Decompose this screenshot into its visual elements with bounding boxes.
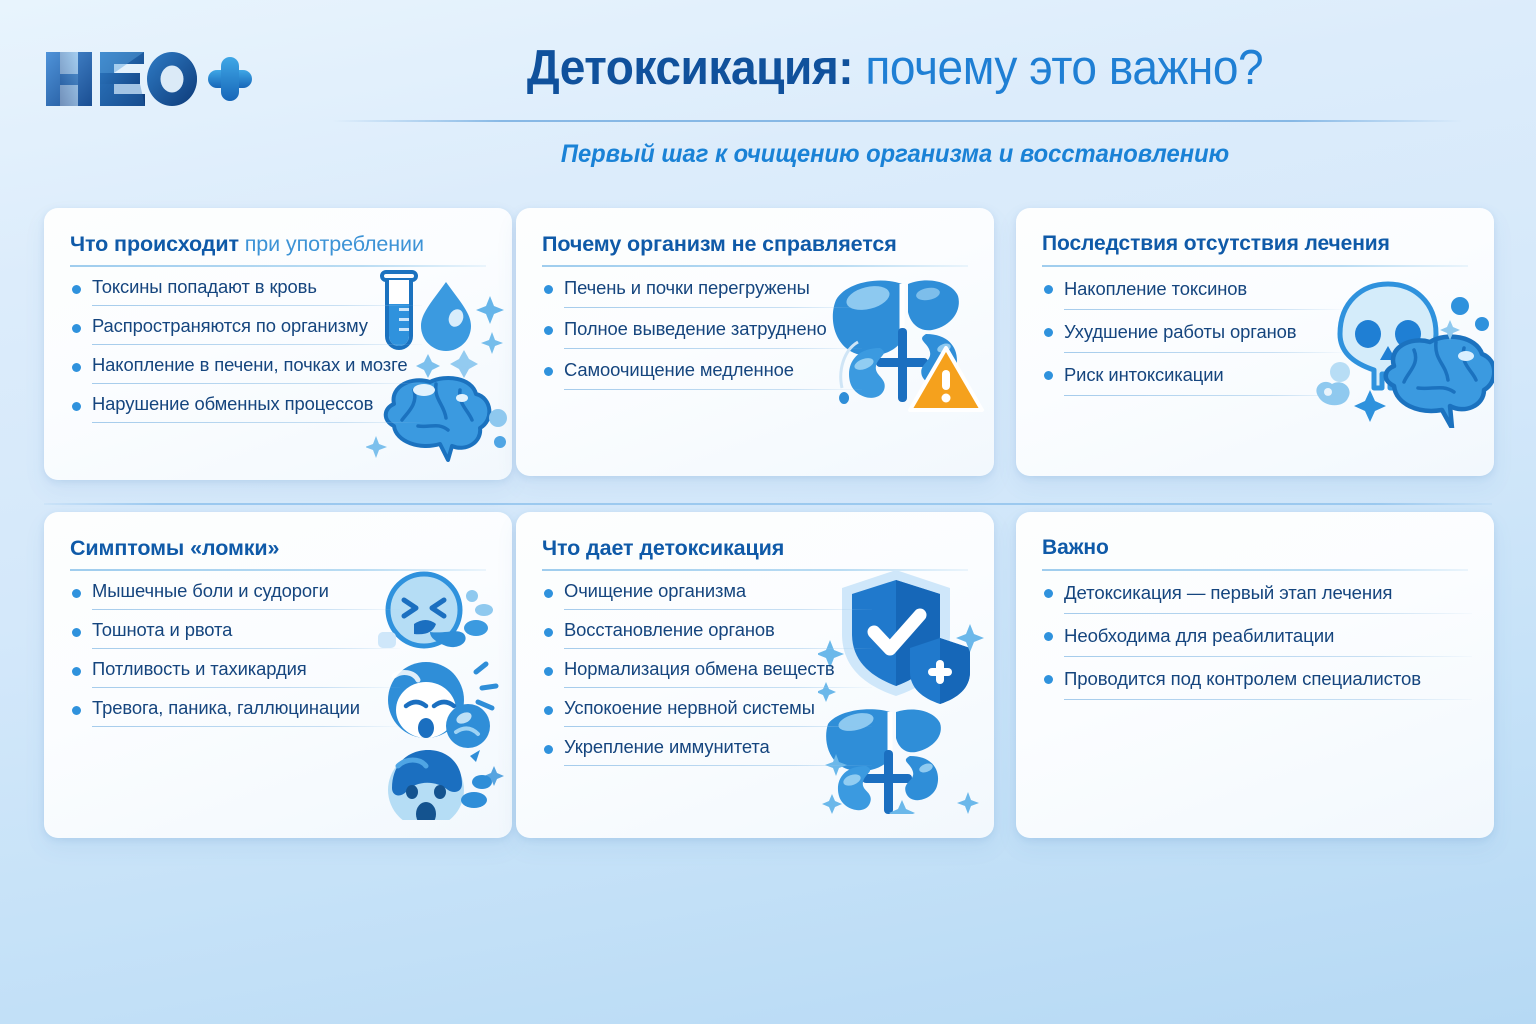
list-item[interactable]: Мышечные боли и судороги [70, 571, 400, 610]
card-title: Последствия отсутствия лечения [1042, 230, 1468, 258]
page-title: Детоксикация: почему это важно? [280, 38, 1510, 98]
list-item[interactable]: Распространяются по организму [70, 306, 422, 345]
sweating-face-icon [388, 662, 496, 748]
list-item[interactable]: Тошнота и рвота [70, 610, 400, 649]
warning-triangle-icon [910, 348, 982, 410]
page-title-bold: Детоксикация: [527, 41, 853, 95]
list-item[interactable]: Очищение организма [542, 571, 872, 610]
sparkle-icon [416, 296, 504, 378]
card-2-list: Печень и почки перегружены Полное выведе… [542, 267, 862, 390]
card-title: Что дает детоксикация [542, 534, 968, 562]
card-title: Симптомы «ломки» [70, 534, 486, 562]
list-item[interactable]: Полное выведение затруднено [542, 308, 862, 349]
card-title-bold: Что происходит [70, 232, 239, 256]
infographic-stage: Детоксикация: почему это важно? Первый ш… [0, 0, 1536, 1024]
list-item[interactable]: Тревога, паника, галлюцинации [70, 688, 400, 727]
card-why-body-fails[interactable]: Почему организм не справляется [516, 208, 994, 476]
card-title-bold: Важно [1042, 536, 1109, 559]
list-item[interactable]: Потливость и тахикардия [70, 649, 400, 688]
list-item[interactable]: Ухудшение работы органов [1042, 310, 1342, 353]
list-item[interactable]: Токсины попадают в кровь [70, 267, 422, 306]
list-item[interactable]: Риск интоксикации [1042, 353, 1342, 396]
shocked-face-icon [388, 750, 504, 820]
list-item[interactable]: Печень и почки перегружены [542, 267, 862, 308]
shield-plus-icon [910, 638, 970, 704]
card-title-bold: Симптомы «ломки» [70, 536, 279, 560]
brain-icon [1386, 337, 1494, 428]
card-4-list: Мышечные боли и судороги Тошнота и рвота… [70, 571, 400, 727]
skull-icon [1340, 284, 1436, 388]
list-item[interactable]: Восстановление органов [542, 610, 872, 649]
list-item[interactable]: Нормализация обмена веществ [542, 649, 872, 688]
card-what-happens[interactable]: Что происходит при употреблении [44, 208, 512, 480]
list-item[interactable]: Детоксикация — первый этап лечения [1042, 571, 1472, 614]
card-3-list: Накопление токсинов Ухудшение работы орг… [1042, 267, 1342, 396]
card-title-bold: Что дает детоксикация [542, 536, 784, 560]
page-subtitle: Первый шаг к очищению организма и восста… [311, 140, 1480, 169]
card-consequences[interactable]: Последствия отсутствия лечения [1016, 208, 1494, 476]
list-item[interactable]: Проводится под контролем специалистов [1042, 657, 1472, 700]
card-6-list: Детоксикация — первый этап лечения Необх… [1042, 571, 1472, 700]
sparkle-icon [1316, 297, 1489, 422]
list-item[interactable]: Накопление в печени, почках и мозге [70, 345, 422, 384]
water-droplet-icon [421, 282, 471, 351]
card-1-list: Токсины попадают в кровь Распространяютс… [70, 267, 422, 423]
card-withdrawal-symptoms[interactable]: Симптомы «ломки» [44, 512, 512, 838]
title-divider [332, 120, 1462, 122]
card-title-regular: при употреблении [239, 232, 424, 256]
list-item[interactable]: Укрепление иммунитета [542, 727, 872, 766]
card-5-list: Очищение организма Восстановление органо… [542, 571, 872, 766]
card-title: Важно [1042, 534, 1468, 562]
list-item[interactable]: Нарушение обменных процессов [70, 384, 422, 423]
card-title-bold: Последствия отсутствия лечения [1042, 232, 1390, 255]
page-title-light: почему это важно? [853, 41, 1263, 95]
list-item[interactable]: Накопление токсинов [1042, 267, 1342, 310]
card-title: Что происходит при употреблении [70, 230, 486, 258]
card-important[interactable]: Важно Детоксикация — первый этап лечения… [1016, 512, 1494, 838]
row-divider [44, 503, 1492, 505]
card-title-bold: Почему организм не справляется [542, 232, 897, 256]
list-item[interactable]: Необходима для реабилитации [1042, 614, 1472, 657]
card-detox-benefits[interactable]: Что дает детоксикация [516, 512, 994, 838]
list-item[interactable]: Самоочищение медленное [542, 349, 862, 390]
neo-plus-logo [44, 42, 254, 114]
card-title: Почему организм не справляется [542, 230, 968, 258]
header: Детоксикация: почему это важно? Первый ш… [0, 0, 1536, 190]
list-item[interactable]: Успокоение нервной системы [542, 688, 872, 727]
